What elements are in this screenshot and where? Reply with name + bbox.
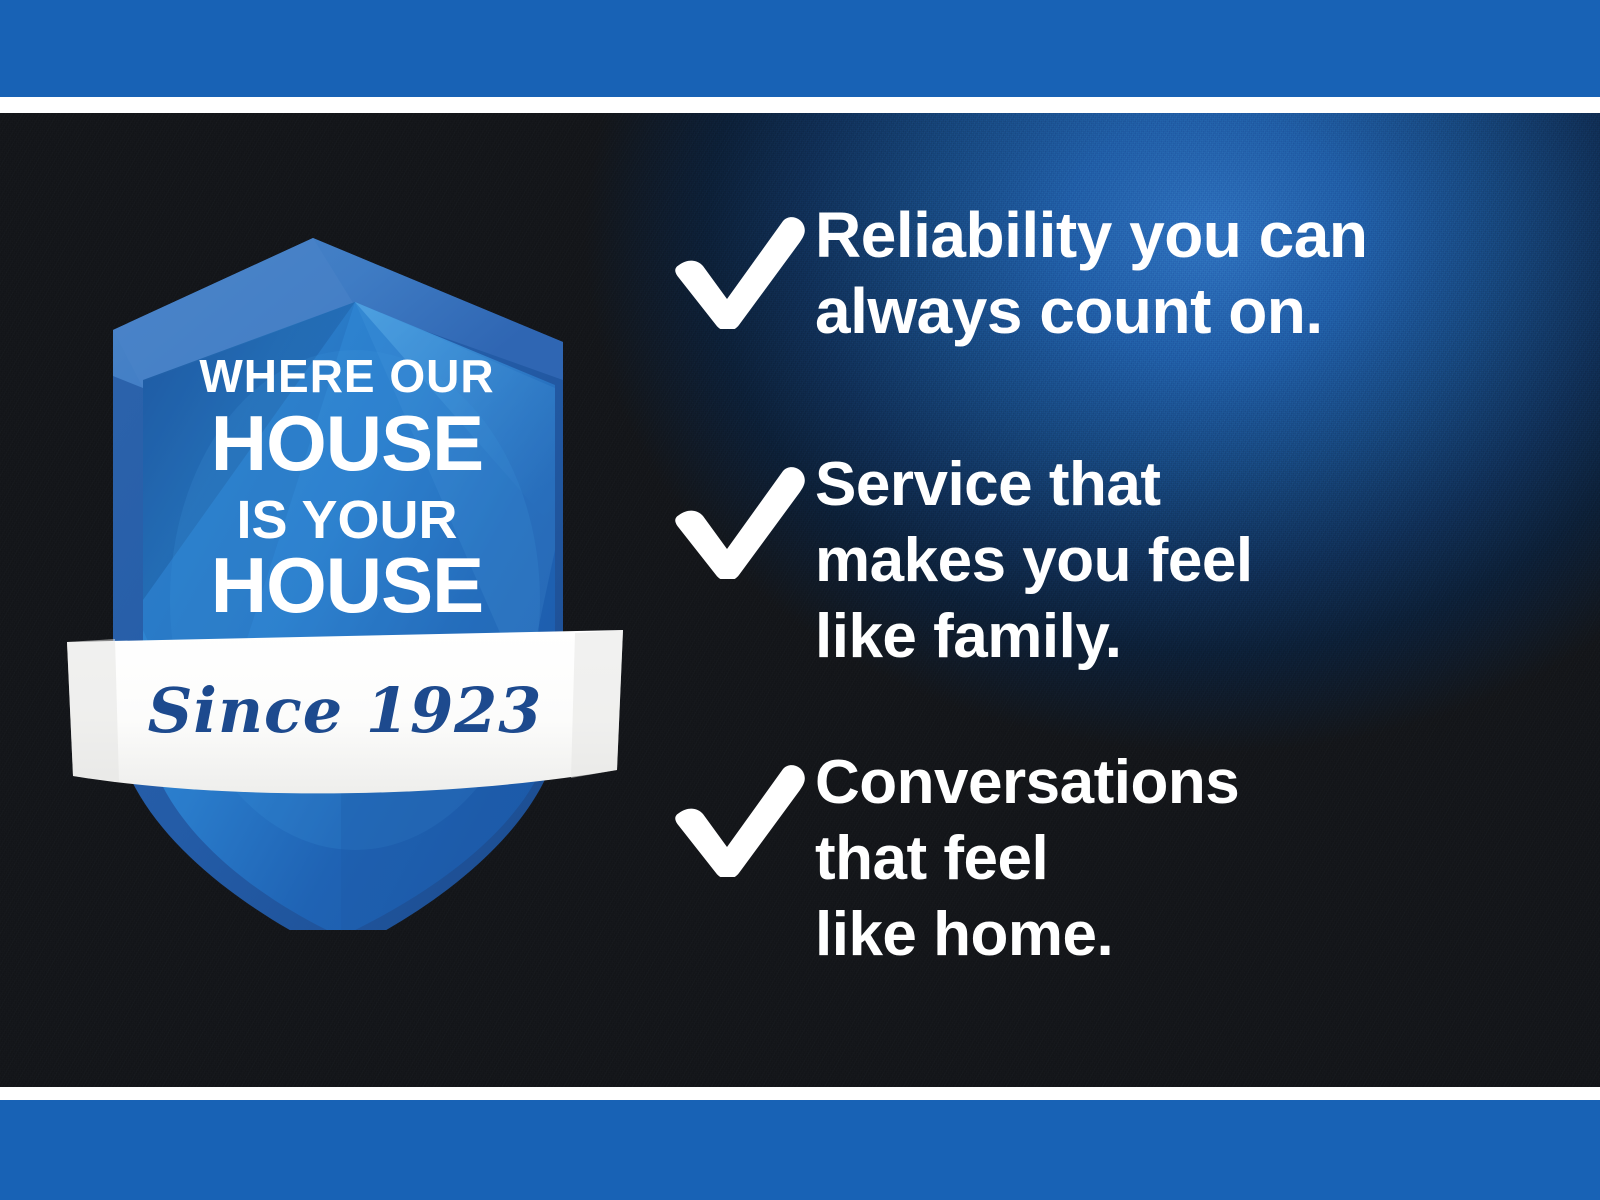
bottom-brand-bar (0, 1100, 1600, 1200)
benefit-item-3: Conversations that feel like home. (665, 743, 1545, 973)
benefit-text-3: Conversations that feel like home. (815, 743, 1545, 973)
benefit-item-1: Reliability you can always count on. (665, 195, 1545, 349)
checkmark-icon (665, 757, 815, 877)
emblem-line-1: WHERE OUR (199, 350, 494, 402)
benefits-list: Reliability you can always count on. Ser… (665, 195, 1545, 973)
benefit-item-2: Service that makes you feel like family. (665, 445, 1545, 675)
checkmark-icon (665, 459, 815, 579)
top-brand-bar (0, 0, 1600, 97)
shield-emblem: WHERE OUR HOUSE IS YOUR HOUSE Since 1923 (55, 130, 635, 930)
ribbon-text: Since 1923 (148, 674, 543, 747)
checkmark-icon (665, 209, 815, 329)
benefit-text-2: Service that makes you feel like family. (815, 445, 1545, 675)
promo-poster: WHERE OUR HOUSE IS YOUR HOUSE Since 1923… (0, 0, 1600, 1200)
emblem-line-2: HOUSE (211, 399, 483, 487)
benefit-text-1: Reliability you can always count on. (815, 195, 1545, 349)
emblem-line-4: HOUSE (211, 541, 483, 629)
